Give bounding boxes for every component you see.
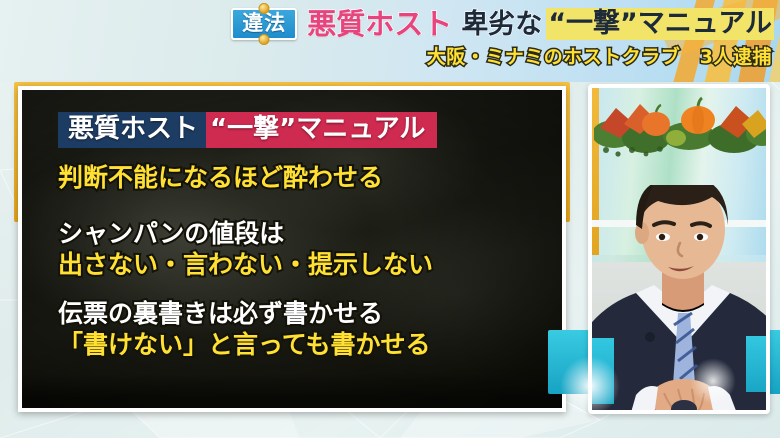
panel-title-red-label: “一撃”マニュアル (210, 116, 425, 142)
presenter-figure (592, 185, 766, 410)
badge-illegal-label: 違法 (242, 13, 286, 34)
header-subtitle-row: 大阪・ミナミのホストクラブ 3人逮捕 (427, 48, 772, 67)
studio-cyan-accent-left (590, 338, 614, 404)
manual-line: 判断不能になるほど酔わせる (58, 162, 544, 193)
headline-highlight: “一撃”マニュアル (546, 8, 774, 40)
header-band: 違法 悪質ホスト 卑劣な “一撃”マニュアル 大阪・ミナミのホストクラブ 3人逮… (0, 0, 780, 82)
manual-panel: 悪質ホスト “一撃”マニュアル 判断不能になるほど酔わせる シャンパンの値段は … (18, 86, 566, 412)
manual-block-1: 判断不能になるほど酔わせる (58, 162, 544, 193)
panel-title-navy-segment: 悪質ホスト (58, 112, 206, 148)
manual-line: 出さない・言わない・提示しない (58, 249, 544, 280)
manual-line: 伝票の裏書きは必ず書かせる (58, 298, 544, 329)
header-title-row: 違法 悪質ホスト 卑劣な “一撃”マニュアル (0, 2, 780, 46)
panel-title-strip: 悪質ホスト “一撃”マニュアル (58, 112, 437, 148)
badge-illegal: 違法 (231, 8, 297, 40)
autumn-decoration (594, 94, 764, 158)
broadcast-screen: 違法 悪質ホスト 卑劣な “一撃”マニュアル 大阪・ミナミのホストクラブ 3人逮… (0, 0, 780, 438)
headline-subtitle: 大阪・ミナミのホストクラブ 3人逮捕 (427, 48, 772, 67)
pin-top-icon (259, 3, 270, 14)
panel-title-red-segment: “一撃”マニュアル (206, 112, 437, 148)
headline-primary: 悪質ホスト (307, 10, 452, 39)
studio-cyan-accent-right (746, 336, 768, 392)
manual-line: 「書けない」と言っても書かせる (58, 329, 544, 360)
pin-bottom-icon (259, 34, 270, 45)
manual-line: シャンパンの値段は (58, 218, 544, 249)
manual-block-2: シャンパンの値段は 出さない・言わない・提示しない (58, 218, 544, 280)
panel-title-navy-label: 悪質ホスト (68, 116, 198, 142)
studio-presenter-photo (588, 84, 770, 414)
manual-block-3: 伝票の裏書きは必ず書かせる 「書けない」と言っても書かせる (58, 298, 544, 360)
headline-secondary: 卑劣な (461, 11, 542, 38)
